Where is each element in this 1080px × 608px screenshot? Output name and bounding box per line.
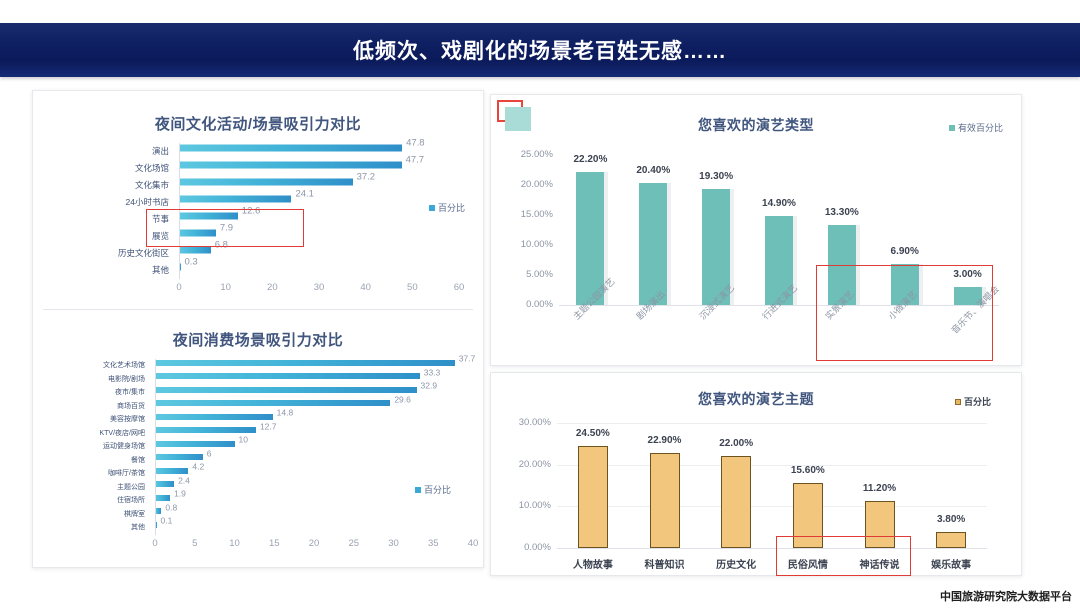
chart-legend: 百分比 [415, 483, 451, 496]
bar-category-label: 24小时书店 [126, 194, 173, 211]
bar-category-label: KTV/夜店/网吧 [99, 427, 149, 441]
bar-value-label: 22.90% [631, 435, 699, 446]
bar-segment [179, 162, 402, 169]
x-axis-baseline [557, 548, 987, 549]
bar-category-label: 其他 [131, 521, 149, 535]
bar-category-label: 餐馆 [131, 454, 149, 468]
bar-value-label: 3.80% [917, 514, 985, 525]
axis-tick-label: 10 [212, 282, 240, 293]
x-axis-category-label: 人物故事 [553, 556, 633, 571]
y-axis-tick-label: 10.00% [507, 239, 553, 250]
bar-category-label: 历史文化街区 [118, 245, 173, 262]
bar-value-label: 14.8 [277, 406, 294, 420]
axis-tick-label: 30 [380, 538, 408, 549]
bar-value-label: 47.7 [406, 152, 425, 169]
bar-category-label: 文化场馆 [135, 160, 173, 177]
legend-swatch-icon [429, 205, 435, 211]
bar-category-label: 运动健身场馆 [103, 440, 149, 454]
bar-segment [179, 179, 353, 186]
bar-value-label: 24.1 [295, 186, 314, 203]
y-axis-tick-label: 0.00% [505, 542, 551, 553]
bar-value-label: 22.00% [702, 438, 770, 449]
bar-segment [179, 213, 238, 220]
bar-category-label: 美容按摩馆 [110, 413, 149, 427]
bar-segment [155, 373, 420, 379]
panel-divider [43, 309, 473, 310]
bar-value-label: 6 [207, 447, 212, 461]
axis-tick-label: 0 [141, 538, 169, 549]
chart-title-night-culture: 夜间文化活动/场景吸引力对比 [33, 113, 483, 134]
axis-tick-label: 25 [340, 538, 368, 549]
left-charts-panel: 夜间文化活动/场景吸引力对比 演出47.8文化场馆47.7文化集市37.224小… [32, 90, 484, 568]
bar-value-label: 20.40% [619, 165, 687, 176]
bar-value-label: 12.7 [260, 420, 277, 434]
bar-value-label: 3.00% [934, 269, 1002, 280]
axis-tick-label: 0 [165, 282, 193, 293]
legend-label: 百分比 [438, 201, 465, 214]
axis-tick-label: 5 [181, 538, 209, 549]
bar-value-label: 0.1 [161, 514, 173, 528]
legend-swatch-icon [949, 125, 955, 131]
axis-tick-label: 50 [398, 282, 426, 293]
x-axis-category-label: 娱乐故事 [911, 556, 991, 571]
axis-tick-label: 40 [352, 282, 380, 293]
bar-category-label: 主题公园 [117, 481, 149, 495]
bar-value-label: 0.3 [185, 254, 198, 271]
y-axis-tick-label: 15.00% [507, 209, 553, 220]
bar-category-label: 夜市/集市 [115, 386, 149, 400]
bar-value-label: 1.9 [174, 487, 186, 501]
x-axis-category-label: 神话传说 [840, 556, 920, 571]
bar-category-label: 节事 [152, 211, 173, 228]
y-axis-tick-label: 0.00% [507, 299, 553, 310]
bar-segment [155, 441, 235, 447]
bar-value-label: 14.90% [745, 198, 813, 209]
bar-category-label: 文化艺术场馆 [103, 359, 149, 373]
bar-shadow [667, 183, 671, 305]
legend-label: 百分比 [424, 483, 451, 496]
legend-swatch-icon [415, 487, 421, 493]
axis-tick-label: 15 [260, 538, 288, 549]
bar-value-label: 19.30% [682, 171, 750, 182]
chart-title-night-consumption: 夜间消费场景吸引力对比 [33, 329, 483, 350]
axis-tick-label: 40 [459, 538, 487, 549]
x-axis-category-label: 民俗风情 [768, 556, 848, 571]
bar-category-label: 演出 [152, 143, 173, 160]
bar-segment [155, 400, 390, 406]
bar-shadow [919, 264, 923, 305]
chart-title-perf-type: 您喜欢的演艺类型 [491, 115, 1021, 135]
value-axis-line [179, 143, 180, 279]
bar-segment [179, 196, 291, 203]
legend-perf-theme: 百分比 [955, 395, 991, 408]
bar-shadow [856, 225, 860, 305]
y-axis-tick-label: 25.00% [507, 149, 553, 160]
gridline [557, 423, 987, 424]
y-axis-tick-label: 20.00% [505, 459, 551, 470]
gridline [557, 465, 987, 466]
axis-tick-label: 60 [445, 282, 473, 293]
performance-theme-panel: 您喜欢的演艺主题 百分比 0.00%10.00%20.00%30.00%24.5… [490, 372, 1022, 576]
bar-value-label: 47.8 [406, 135, 425, 152]
bar-value-label: 7.9 [220, 220, 233, 237]
slide-title-banner: 低频次、戏剧化的场景老百姓无感…… [0, 23, 1080, 77]
bar-segment [155, 481, 174, 487]
bar-segment [179, 247, 211, 254]
bar-value-label: 10 [239, 433, 248, 447]
bar-value-label: 6.8 [215, 237, 228, 254]
bar-column [650, 453, 680, 548]
bar-column [865, 501, 895, 548]
bar-value-label: 37.2 [357, 169, 376, 186]
bar-value-label: 12.6 [242, 203, 261, 220]
axis-tick-label: 35 [419, 538, 447, 549]
legend-label: 有效百分比 [958, 121, 1003, 134]
bar-category-label: 展览 [152, 228, 173, 245]
x-axis-category-label: 历史文化 [696, 556, 776, 571]
bar-value-label: 11.20% [846, 483, 914, 494]
bar-value-label: 15.60% [774, 465, 842, 476]
bar-column [936, 532, 966, 548]
bar-value-label: 13.30% [808, 207, 876, 218]
legend-swatch-icon [955, 399, 961, 405]
bar-column [721, 456, 751, 548]
bar-value-label: 32.9 [421, 379, 438, 393]
y-axis-tick-label: 30.00% [505, 417, 551, 428]
bar-value-label: 6.90% [871, 246, 939, 257]
footer-attribution: 中国旅游研究院大数据平台 [940, 588, 1072, 604]
bar-category-label: 电影院/剧场 [108, 373, 149, 387]
axis-tick-label: 20 [300, 538, 328, 549]
gridline [557, 506, 987, 507]
axis-tick-label: 20 [258, 282, 286, 293]
bar-category-label: 住宿场所 [117, 494, 149, 508]
axis-tick-label: 10 [221, 538, 249, 549]
bar-column [793, 483, 823, 548]
chart-title-perf-theme: 您喜欢的演艺主题 [491, 389, 1021, 409]
bar-value-label: 24.50% [559, 428, 627, 439]
bar-category-label: 棋牌室 [124, 508, 149, 522]
chart-legend: 百分比 [429, 201, 465, 214]
bar-value-label: 33.3 [424, 366, 441, 380]
bar-segment [179, 145, 402, 152]
bar-value-label: 4.2 [192, 460, 204, 474]
y-axis-tick-label: 5.00% [507, 269, 553, 280]
bar-column [578, 446, 608, 548]
bar-segment [155, 414, 273, 420]
x-axis-category-label: 科普知识 [625, 556, 705, 571]
bar-segment [179, 230, 216, 237]
bar-category-label: 文化集市 [135, 177, 173, 194]
bar-value-label: 29.6 [394, 393, 411, 407]
bar-category-label: 其他 [152, 262, 173, 279]
slide-title-text: 低频次、戏剧化的场景老百姓无感…… [353, 35, 727, 65]
bar-value-label: 37.7 [459, 352, 476, 366]
legend-perf-type: 有效百分比 [949, 121, 1003, 134]
slide-canvas: 低频次、戏剧化的场景老百姓无感…… 夜间文化活动/场景吸引力对比 演出47.8文… [0, 0, 1080, 608]
bar-value-label: 0.8 [165, 501, 177, 515]
axis-tick-label: 30 [305, 282, 333, 293]
y-axis-tick-label: 20.00% [507, 179, 553, 190]
bar-category-label: 商场百货 [117, 400, 149, 414]
bar-segment [155, 387, 417, 393]
legend-label: 百分比 [964, 395, 991, 408]
bar-column [639, 183, 667, 305]
value-axis-line [155, 359, 156, 535]
performance-type-panel: 您喜欢的演艺类型 有效百分比 0.00%5.00%10.00%15.00%20.… [490, 94, 1022, 366]
bar-value-label: 22.20% [556, 154, 624, 165]
y-axis-tick-label: 10.00% [505, 500, 551, 511]
bar-segment [155, 360, 455, 366]
bar-category-label: 咖啡厅/茶馆 [108, 467, 149, 481]
bar-value-label: 2.4 [178, 474, 190, 488]
